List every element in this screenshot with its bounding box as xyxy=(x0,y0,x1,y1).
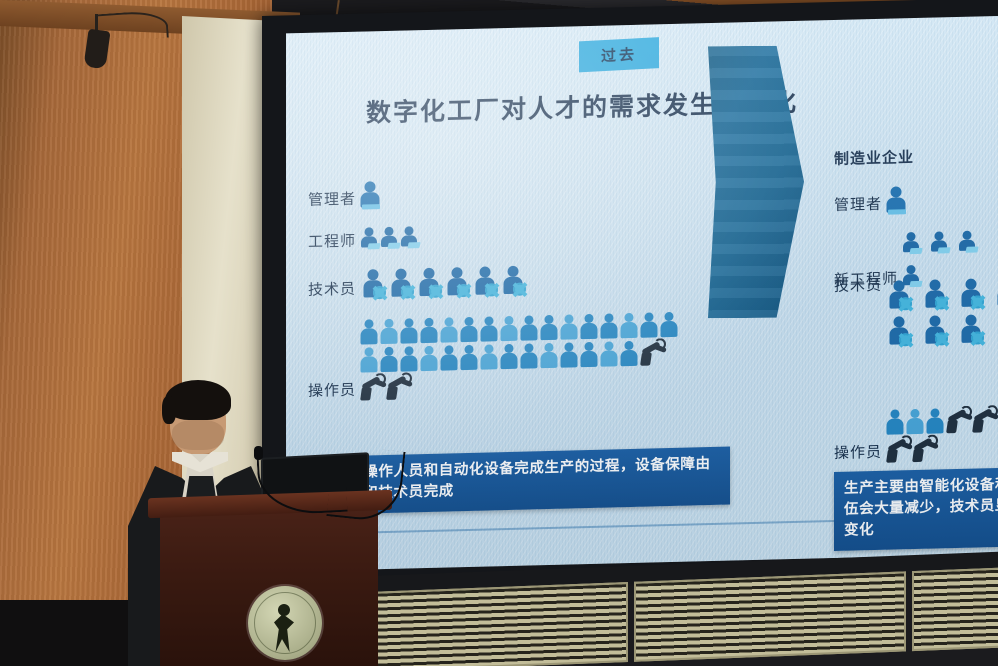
row-label: 工程师 xyxy=(308,234,356,250)
right-panel-heading: 制造业企业 xyxy=(834,146,914,169)
speaker-icon xyxy=(86,14,108,68)
operator-icon xyxy=(419,318,439,343)
operator-icon xyxy=(885,409,905,434)
presentation-photo-scene: 数字化工厂对人才的需求发生了变化 管理者 工程师 xyxy=(0,0,998,666)
operator-icon xyxy=(519,315,539,340)
operator-icon xyxy=(519,343,539,368)
row-label: 管理者 xyxy=(834,197,882,213)
engineer-icon xyxy=(399,226,418,250)
operator-icon xyxy=(379,347,399,372)
microphone-arm xyxy=(326,444,405,523)
operator-icon xyxy=(499,344,519,369)
manager-icon-group xyxy=(885,186,907,215)
left-row-technician: 技术员 xyxy=(308,266,526,301)
operator-icon xyxy=(479,316,499,341)
operator-icon xyxy=(599,341,619,366)
operator-icon xyxy=(539,315,559,340)
left-row-manager: 管理者 xyxy=(308,181,381,211)
technician-icon xyxy=(387,268,414,299)
operator-icon xyxy=(439,317,459,342)
robot-arm-icon xyxy=(911,434,937,463)
operator-icon xyxy=(559,314,579,339)
slide-title: 数字化工厂对人才的需求发生了变化 xyxy=(366,80,926,130)
operator-icon xyxy=(539,343,559,368)
speaker-body xyxy=(83,29,110,70)
technician-icon xyxy=(471,266,498,297)
technician-icon xyxy=(957,278,984,309)
operator-icon xyxy=(439,345,459,370)
robot-arm-icon xyxy=(639,337,665,366)
left-row-engineer: 工程师 xyxy=(308,226,418,253)
robot-arm-icon xyxy=(945,405,971,434)
row-label: 操作员 xyxy=(834,445,882,461)
operator-icon-group xyxy=(359,312,689,401)
manager-icon xyxy=(885,186,907,215)
operator-icon xyxy=(559,342,579,367)
institution-emblem xyxy=(248,586,322,660)
engineer-icon xyxy=(929,231,948,255)
technician-icon xyxy=(359,269,386,300)
operator-icon xyxy=(905,409,925,434)
air-vent-panel xyxy=(368,582,628,666)
operator-icon xyxy=(619,341,639,366)
past-badge: 过去 xyxy=(579,37,659,72)
engineer-icon xyxy=(379,227,398,251)
engineer-icon xyxy=(957,231,976,255)
presenter-face-shadow xyxy=(172,420,224,450)
operator-icon-group xyxy=(885,404,998,463)
engineer-icon-group xyxy=(359,226,418,251)
operator-icon xyxy=(419,346,439,371)
robot-arm-icon xyxy=(971,404,997,433)
row-label: 技术员 xyxy=(834,278,882,294)
right-row-technician: 技术员 xyxy=(834,276,998,348)
technician-icon xyxy=(921,315,948,346)
emblem-figure-head xyxy=(278,604,290,616)
presenter-hair xyxy=(165,380,231,420)
technician-icon xyxy=(499,266,526,297)
operator-icon xyxy=(479,344,499,369)
row-label: 管理者 xyxy=(308,192,356,208)
technician-icon xyxy=(993,277,998,308)
technician-icon xyxy=(921,279,948,310)
air-vent-panel xyxy=(912,567,998,651)
operator-icon xyxy=(459,345,479,370)
row-label: 操作员 xyxy=(308,383,356,399)
engineer-icon xyxy=(901,232,920,256)
technician-icon xyxy=(443,267,470,298)
operator-icon xyxy=(925,408,945,433)
manager-icon xyxy=(359,181,381,210)
operator-icon xyxy=(359,319,379,344)
technician-icon xyxy=(885,280,912,311)
engineer-icon xyxy=(359,227,378,251)
row-label: 技术员 xyxy=(308,282,356,298)
robot-arm-icon xyxy=(385,371,411,400)
right-caption: 生产主要由智能化设备和机 伍会大量减少，技术员显著 变化 xyxy=(834,467,998,551)
operator-icon xyxy=(659,312,679,337)
manager-icon-group xyxy=(359,181,381,210)
operator-icon xyxy=(599,313,619,338)
operator-icon xyxy=(399,318,419,343)
operator-icon xyxy=(619,313,639,338)
technician-icon-group xyxy=(359,266,526,300)
microphone-right xyxy=(330,448,406,526)
operator-icon xyxy=(399,346,419,371)
operator-icon xyxy=(359,347,379,372)
technician-icon xyxy=(957,314,984,345)
operator-icon xyxy=(579,314,599,339)
operator-icon xyxy=(639,312,659,337)
right-row-operator: 操作员 xyxy=(834,404,998,464)
robot-arm-icon xyxy=(885,434,911,463)
right-row-manager: 管理者 xyxy=(834,186,907,216)
air-vent-panels xyxy=(368,568,998,666)
air-vent-panel xyxy=(634,571,906,661)
technician-icon xyxy=(415,268,442,299)
operator-icon xyxy=(499,316,519,341)
robot-arm-icon xyxy=(359,372,385,401)
operator-icon xyxy=(459,317,479,342)
operator-icon xyxy=(579,342,599,367)
left-row-operator: 操作员 xyxy=(308,312,689,402)
operator-icon xyxy=(379,319,399,344)
technician-icon xyxy=(885,316,912,347)
microphone-capsule xyxy=(254,446,263,460)
technician-icon-group xyxy=(885,276,998,347)
